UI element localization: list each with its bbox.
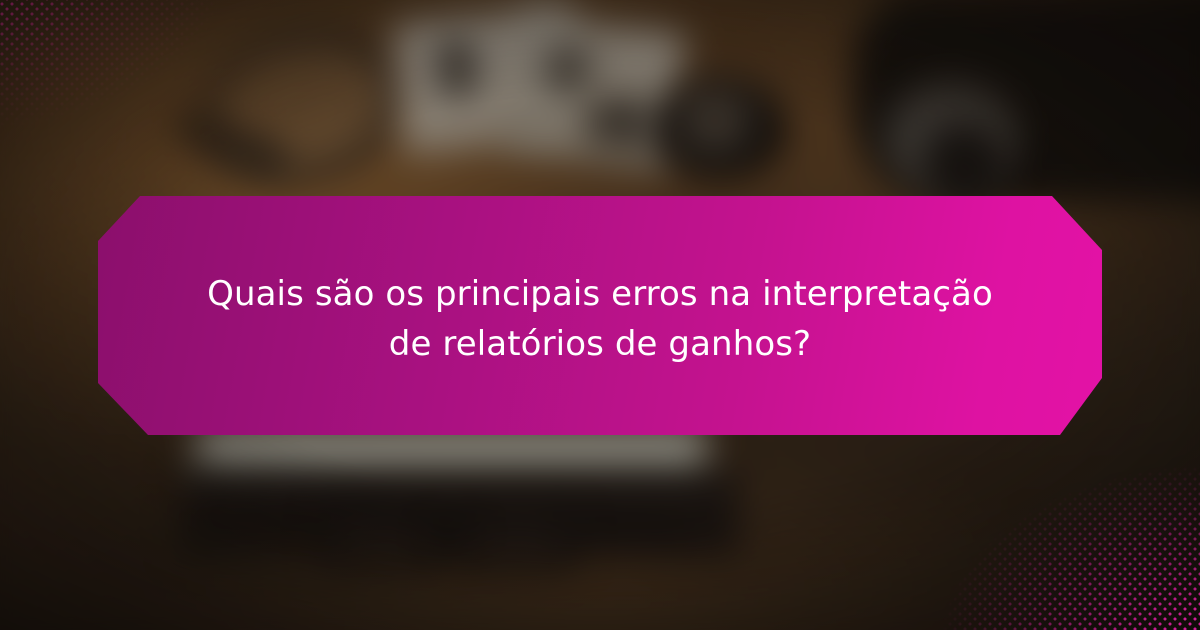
headline-line-1: Quais são os principais erros na interpr… (170, 269, 1030, 319)
headline-banner: Quais são os principais erros na interpr… (98, 196, 1102, 435)
halftone-dots-top-left-icon (0, 0, 282, 164)
headline-text: Quais são os principais erros na interpr… (170, 263, 1030, 369)
headline-line-2: de relatórios de ganhos? (170, 319, 1030, 369)
halftone-dots-bottom-right-icon (910, 454, 1200, 630)
social-card: Quais são os principais erros na interpr… (0, 0, 1200, 630)
